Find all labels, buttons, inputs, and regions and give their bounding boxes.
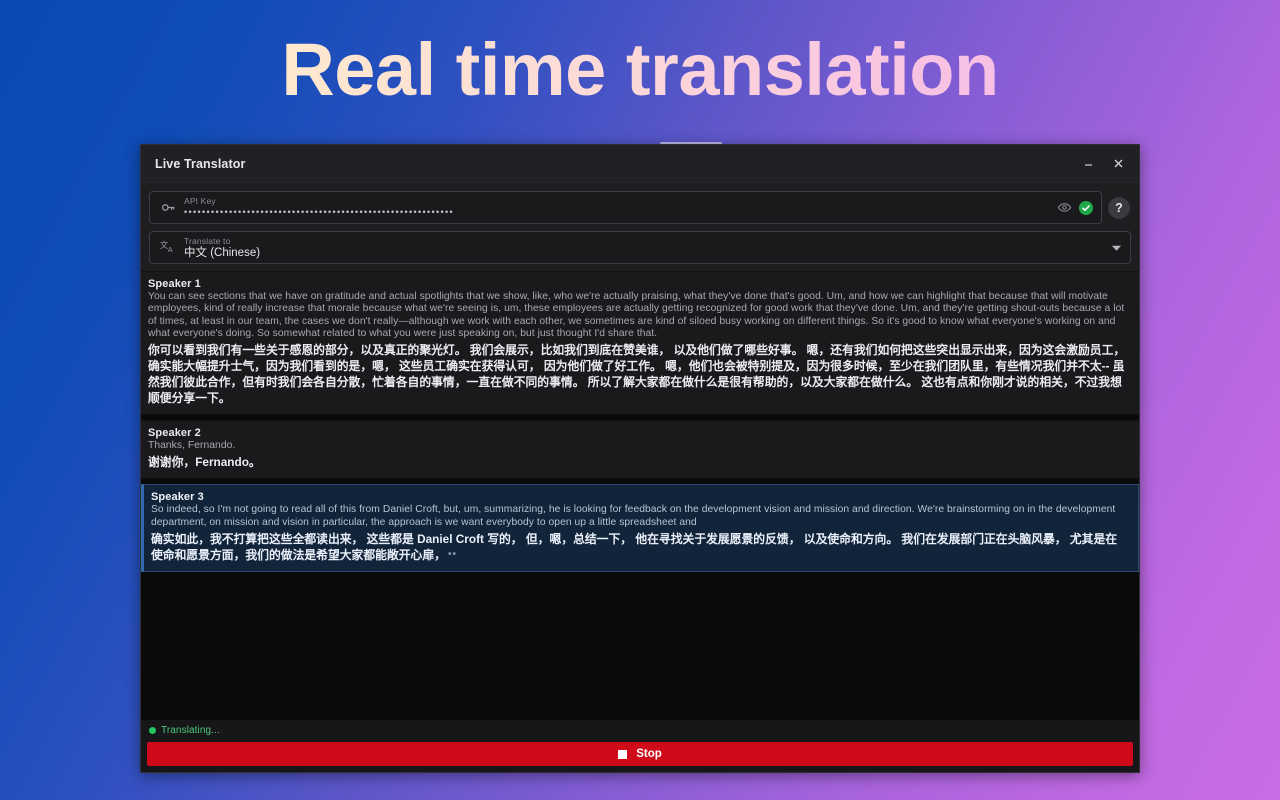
stop-button-label: Stop bbox=[636, 748, 662, 760]
typing-indicator-icon: •• bbox=[446, 547, 457, 563]
status-bar: Translating... bbox=[141, 720, 1139, 741]
api-key-trailing bbox=[1057, 200, 1093, 215]
live-translator-window: Live Translator bbox=[140, 144, 1140, 773]
stop-button-area: Stop bbox=[141, 741, 1139, 772]
transcript-entry-active[interactable]: Speaker 3 So indeed, so I'm not going to… bbox=[141, 484, 1139, 572]
translate-to-select[interactable]: 文 A Translate to 中文 (Chinese) bbox=[149, 231, 1131, 264]
source-text: Thanks, Fernando. bbox=[148, 440, 1129, 452]
minimize-icon[interactable] bbox=[1073, 151, 1103, 177]
api-key-label: API Key bbox=[184, 196, 1057, 206]
page-title: Real time translation bbox=[0, 27, 1280, 112]
window-titlebar: Live Translator bbox=[141, 145, 1139, 183]
close-icon[interactable] bbox=[1103, 151, 1133, 177]
api-key-body: API Key ••••••••••••••••••••••••••••••••… bbox=[184, 196, 1057, 219]
transcript-entry[interactable]: Speaker 2 Thanks, Fernando. 谢谢你，Fernando… bbox=[141, 420, 1139, 479]
api-key-row: API Key ••••••••••••••••••••••••••••••••… bbox=[149, 191, 1131, 224]
transcript-entry[interactable]: Speaker 1 You can see sections that we h… bbox=[141, 271, 1139, 415]
help-button[interactable]: ? bbox=[1108, 197, 1130, 219]
settings-panel: API Key ••••••••••••••••••••••••••••••••… bbox=[141, 183, 1139, 271]
translate-icon: 文 A bbox=[159, 240, 178, 255]
key-icon bbox=[159, 200, 178, 215]
api-key-field[interactable]: API Key ••••••••••••••••••••••••••••••••… bbox=[149, 191, 1102, 224]
stop-button[interactable]: Stop bbox=[147, 742, 1133, 766]
translate-to-body: Translate to 中文 (Chinese) bbox=[184, 236, 1105, 260]
speaker-label: Speaker 1 bbox=[148, 278, 1129, 290]
check-circle-icon bbox=[1079, 201, 1093, 215]
source-text: So indeed, so I'm not going to read all … bbox=[151, 504, 1128, 529]
status-text: Translating... bbox=[161, 725, 220, 736]
svg-text:A: A bbox=[168, 246, 173, 254]
source-text: You can see sections that we have on gra… bbox=[148, 291, 1129, 340]
translate-to-value: 中文 (Chinese) bbox=[184, 246, 1105, 260]
translate-to-row: 文 A Translate to 中文 (Chinese) bbox=[149, 231, 1131, 264]
translated-text: 谢谢你，Fernando。 bbox=[148, 454, 1129, 470]
chevron-down-icon[interactable] bbox=[1105, 239, 1122, 257]
status-indicator-dot bbox=[149, 727, 156, 734]
translated-text-value: 确实如此，我不打算把这些全都读出来， 这些都是 Daniel Croft 写的，… bbox=[151, 532, 1117, 562]
api-key-input[interactable]: ••••••••••••••••••••••••••••••••••••••••… bbox=[184, 206, 1057, 219]
stop-square-icon bbox=[618, 750, 627, 759]
speaker-label: Speaker 3 bbox=[151, 491, 1128, 503]
window-title: Live Translator bbox=[155, 157, 245, 171]
translated-text: 你可以看到我们有一些关于感恩的部分，以及真正的聚光灯。 我们会展示，比如我们到底… bbox=[148, 342, 1129, 406]
translate-to-label: Translate to bbox=[184, 236, 1105, 246]
transcript-list[interactable]: Speaker 1 You can see sections that we h… bbox=[141, 271, 1139, 720]
translated-text: 确实如此，我不打算把这些全都读出来， 这些都是 Daniel Croft 写的，… bbox=[151, 531, 1128, 563]
speaker-label: Speaker 2 bbox=[148, 427, 1129, 439]
eye-icon[interactable] bbox=[1057, 200, 1072, 215]
